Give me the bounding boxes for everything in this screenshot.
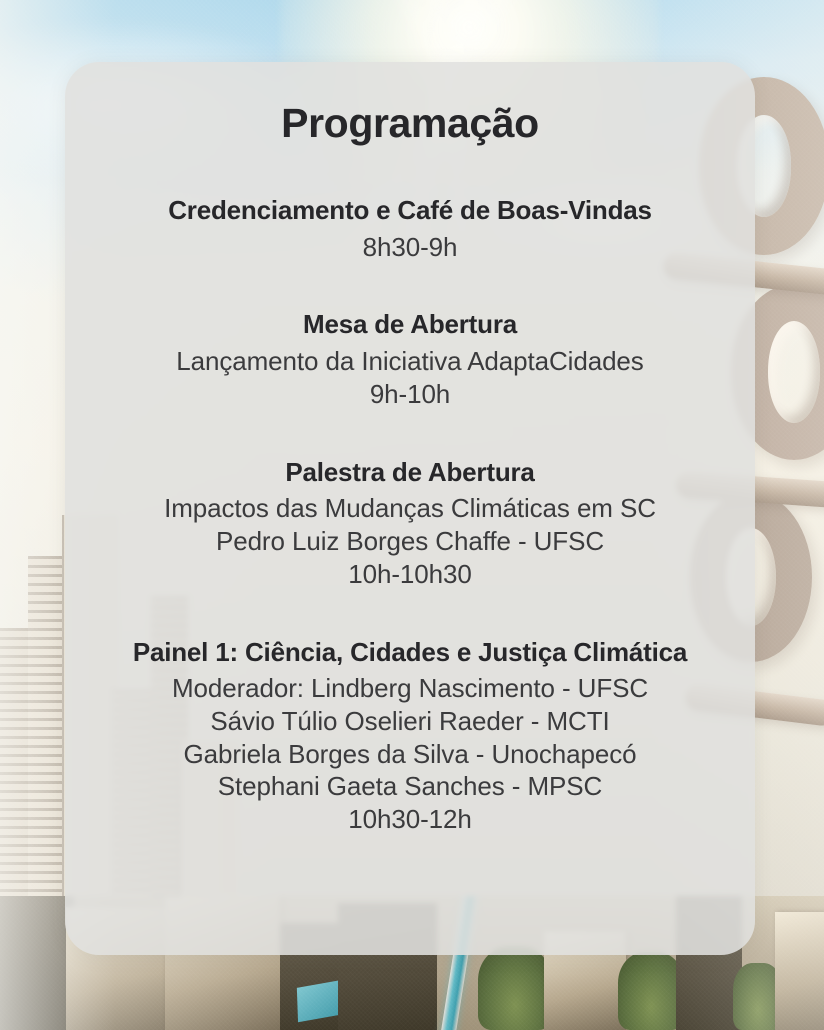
- page-title: Programação: [281, 100, 539, 147]
- session-block: Mesa de Abertura Lançamento da Iniciativ…: [99, 309, 721, 410]
- session-speaker: Pedro Luiz Borges Chaffe - UFSC: [99, 525, 721, 558]
- schedule-card: Programação Credenciamento e Café de Boa…: [65, 62, 755, 955]
- session-time: 10h30-12h: [99, 803, 721, 836]
- session-heading: Painel 1: Ciência, Cidades e Justiça Cli…: [99, 637, 721, 668]
- session-time: 9h-10h: [99, 378, 721, 411]
- session-speaker: Gabriela Borges da Silva - Unochapecó: [99, 738, 721, 771]
- session-block: Painel 1: Ciência, Cidades e Justiça Cli…: [99, 637, 721, 836]
- session-block: Palestra de Abertura Impactos das Mudanç…: [99, 457, 721, 591]
- session-heading: Credenciamento e Café de Boas-Vindas: [99, 195, 721, 226]
- session-moderator: Moderador: Lindberg Nascimento - UFSC: [99, 672, 721, 705]
- session-block: Credenciamento e Café de Boas-Vindas 8h3…: [99, 195, 721, 263]
- session-detail: Lançamento da Iniciativa AdaptaCidades: [99, 345, 721, 378]
- session-speaker: Sávio Túlio Oselieri Raeder - MCTI: [99, 705, 721, 738]
- session-heading: Palestra de Abertura: [99, 457, 721, 488]
- session-speaker: Stephani Gaeta Sanches - MPSC: [99, 770, 721, 803]
- session-time: 8h30-9h: [99, 231, 721, 264]
- event-schedule-poster: Programação Credenciamento e Café de Boa…: [0, 0, 824, 1030]
- session-heading: Mesa de Abertura: [99, 309, 721, 340]
- session-detail: Impactos das Mudanças Climáticas em SC: [99, 492, 721, 525]
- session-time: 10h-10h30: [99, 558, 721, 591]
